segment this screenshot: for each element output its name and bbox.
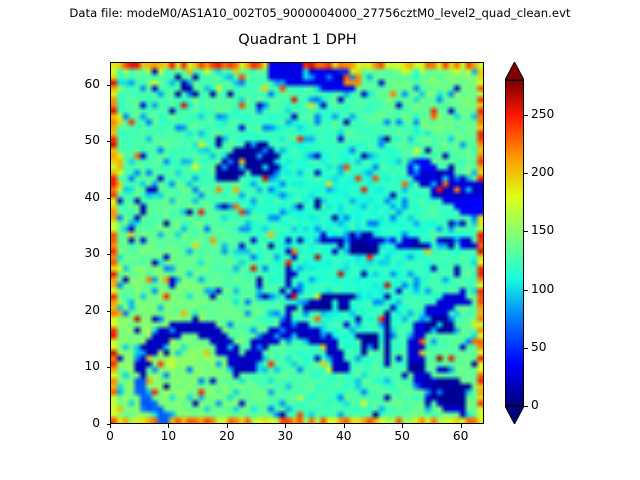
colorbar: 050100150200250 [505, 62, 625, 424]
x-tick-mark [168, 424, 169, 428]
y-tick-label: 20 [60, 303, 100, 317]
y-tick-label: 40 [60, 190, 100, 204]
y-tick-label: 0 [60, 416, 100, 430]
y-tick-label: 30 [60, 246, 100, 260]
x-tick-mark [344, 424, 345, 428]
x-tick-label: 50 [382, 429, 422, 443]
heatmap-axes [110, 62, 484, 424]
x-tick-mark [402, 424, 403, 428]
y-tick-mark [107, 141, 111, 142]
colorbar-tick-label: 50 [531, 340, 547, 354]
colorbar-tick-mark [524, 115, 528, 116]
colorbar-tick-label: 0 [531, 398, 539, 412]
colorbar-tick-mark [524, 348, 528, 349]
x-tick-label: 10 [148, 429, 188, 443]
x-tick-mark [227, 424, 228, 428]
colorbar-tick-label: 150 [531, 223, 554, 237]
x-tick-mark [461, 424, 462, 428]
y-tick-label: 50 [60, 133, 100, 147]
data-file-suptitle: Data file: modeM0/AS1A10_002T05_90000040… [0, 6, 640, 20]
colorbar-extend-bottom-arrow-icon [505, 406, 524, 424]
x-tick-label: 30 [265, 429, 305, 443]
colorbar-tick-mark [524, 173, 528, 174]
y-tick-label: 10 [60, 359, 100, 373]
colorbar-extend-top-arrow-icon [505, 62, 524, 80]
y-tick-mark [107, 311, 111, 312]
y-tick-mark [107, 198, 111, 199]
x-tick-label: 40 [324, 429, 364, 443]
x-tick-label: 20 [207, 429, 247, 443]
colorbar-tick-label: 100 [531, 282, 554, 296]
colorbar-tick-mark [524, 290, 528, 291]
x-tick-label: 0 [90, 429, 130, 443]
colorbar-tick-mark [524, 406, 528, 407]
colorbar-tick-label: 200 [531, 165, 554, 179]
page-title: Quadrant 1 DPH [110, 31, 485, 48]
y-tick-mark [107, 424, 111, 425]
y-tick-mark [107, 367, 111, 368]
x-tick-mark [110, 424, 111, 428]
colorbar-tick-mark [524, 231, 528, 232]
quadrant-dph-heatmap-image [111, 63, 483, 423]
matplotlib-figure: Data file: modeM0/AS1A10_002T05_90000040… [0, 0, 640, 480]
colorbar-tick-label: 250 [531, 107, 554, 121]
x-tick-mark [285, 424, 286, 428]
colorbar-gradient [505, 80, 524, 406]
y-tick-mark [107, 85, 111, 86]
y-tick-mark [107, 254, 111, 255]
y-tick-label: 60 [60, 77, 100, 91]
x-tick-label: 60 [441, 429, 481, 443]
